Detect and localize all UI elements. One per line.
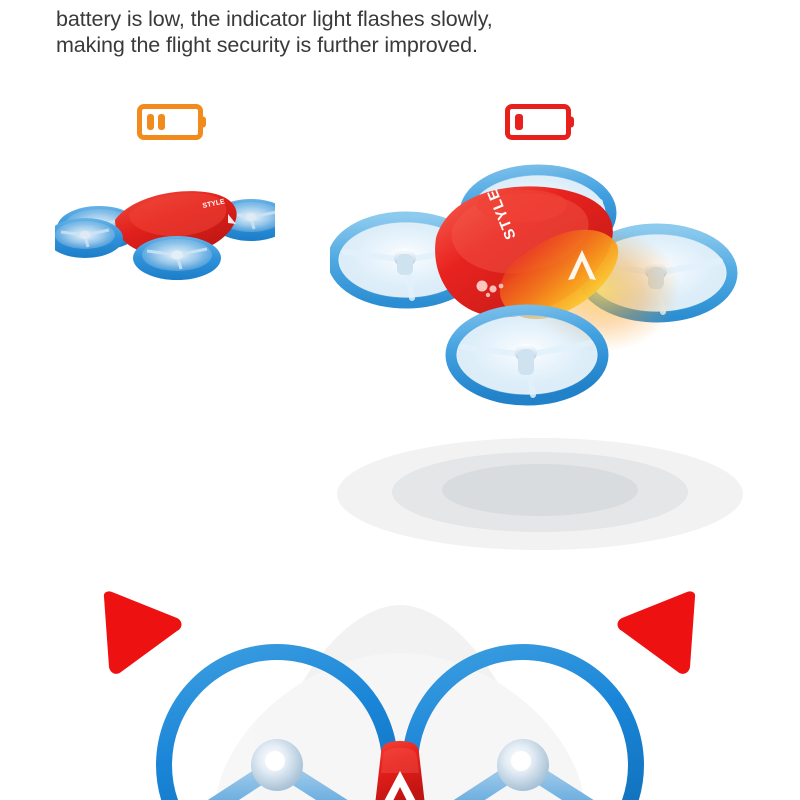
rotor-guard-bottom (451, 310, 603, 400)
left-indicator-arrow (95, 588, 187, 680)
rotor-guard-front-left (164, 652, 390, 800)
feature-description: alarms 30~60 seconds in advance.When the… (56, 0, 676, 58)
battery-bar (158, 114, 165, 130)
drone-small-image: STYLE (55, 172, 275, 282)
medium-battery-icon (137, 104, 203, 140)
ground-shadow (335, 430, 745, 560)
product-feature-panel: alarms 30~60 seconds in advance.When the… (0, 0, 800, 800)
battery-shell (505, 104, 571, 140)
description-line-3: making the flight security is further im… (56, 32, 676, 58)
drone-large-image: STYLE (330, 155, 750, 415)
low-battery-icon (505, 104, 571, 140)
rotor-guard-front-right (410, 652, 636, 800)
right-indicator-arrow (612, 588, 704, 680)
description-line-2: battery is low, the indicator light flas… (56, 6, 676, 32)
battery-bar (147, 114, 154, 130)
battery-bar (515, 114, 523, 130)
drone-front-body (375, 741, 425, 800)
battery-shell (137, 104, 203, 140)
rotor-guard-front-center (133, 236, 221, 280)
